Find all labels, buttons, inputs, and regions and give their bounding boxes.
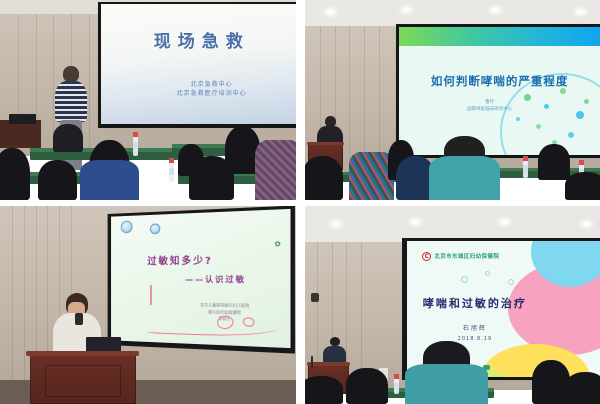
slide-2-subtitle: 曹玲 国家呼吸临床研究中心 — [419, 99, 559, 114]
audience-member — [255, 140, 296, 200]
slide-1-subtitle: 北京急救中心 北京急救医疗培训中心 — [128, 80, 295, 99]
equipment-bag — [53, 124, 83, 152]
slide-4-header-text: 北京市东城区妇幼保健院 — [434, 252, 499, 260]
hospital-logo-icon: C — [422, 252, 431, 261]
podium-1 — [0, 120, 41, 148]
slide-2-gradient-band — [399, 27, 600, 46]
slide-1-title: 现场急救 — [116, 27, 287, 52]
laptop-1 — [9, 114, 36, 124]
slide-4-header: C 北京市东城区妇幼保健院 — [422, 252, 499, 261]
lecture-scene-4: C 北京市东城区妇幼保健院 哮喘和过敏的治疗 石旭辉 2018.8.19 — [305, 206, 600, 404]
audience-member — [305, 376, 343, 404]
ceiling-light — [500, 220, 509, 224]
panel-bottom-left[interactable]: ✿ 过敏知多少? ——认识过敏 北京儿童医院顺义妇儿医院 顺义区妇幼保健院 吴昌… — [0, 206, 296, 404]
slide-4-date: 2018.8.19 — [415, 336, 536, 342]
water-bottle — [133, 132, 138, 156]
audience-member — [346, 368, 387, 404]
audience-member — [349, 152, 393, 200]
ceiling-light — [332, 222, 341, 226]
slide-1-subtitle-line2: 北京急救医疗培训中心 — [128, 89, 295, 98]
audience-member — [80, 160, 139, 200]
slide-3-subtitle: ——认识过敏 — [160, 274, 274, 286]
audience-member — [538, 144, 570, 180]
speaker-1-shirt — [55, 81, 88, 123]
slide-4-title: 哮喘和过敏的治疗 — [415, 295, 536, 311]
ribbon-decoration — [147, 315, 282, 338]
slide-1-subtitle-line1: 北京急救中心 — [128, 80, 295, 89]
panel-top-right[interactable]: 如何判断哮喘的严重程度 曹玲 国家呼吸临床研究中心 — [305, 0, 600, 200]
organization-logo-2 — [150, 223, 160, 234]
slide-3: ✿ 过敏知多少? ——认识过敏 北京儿童医院顺义妇儿医院 顺义区妇幼保健院 吴昌… — [111, 209, 290, 348]
ceiling-light — [582, 222, 591, 226]
water-bottle — [394, 374, 399, 394]
microphone — [75, 313, 83, 325]
speaker-1-head — [63, 66, 79, 82]
slide-2-subtitle-line1: 曹玲 — [419, 99, 559, 107]
corner-mark-icon: ✿ — [274, 240, 282, 250]
water-bottle — [523, 156, 528, 178]
slide-2-title: 如何判断哮喘的严重程度 — [409, 73, 590, 89]
lecture-scene-1: 现场急救 北京急救中心 北京急救医疗培训中心 — [0, 0, 296, 200]
audience-member — [565, 372, 600, 404]
projection-screen-3: ✿ 过敏知多少? ——认识过敏 北京儿童医院顺义妇儿医院 顺义区妇幼保健院 吴昌… — [111, 209, 290, 348]
audience-member — [405, 364, 488, 404]
audience-member — [0, 148, 30, 200]
lecture-scene-3: ✿ 过敏知多少? ——认识过敏 北京儿童医院顺义妇儿医院 顺义区妇幼保健院 吴昌… — [0, 206, 296, 404]
lecture-scene-2: 如何判断哮喘的严重程度 曹玲 国家呼吸临床研究中心 — [305, 0, 600, 200]
ceiling-light — [326, 10, 335, 14]
slide-3-title: 过敏知多少? — [127, 251, 235, 267]
slide-4-presenter: 石旭辉 — [415, 323, 536, 332]
slide-2: 如何判断哮喘的严重程度 曹玲 国家呼吸临床研究中心 — [399, 27, 600, 155]
audience-member — [429, 156, 500, 200]
panel-bottom-right[interactable]: C 北京市东城区妇幼保健院 哮喘和过敏的治疗 石旭辉 2018.8.19 — [305, 206, 600, 404]
photo-grid: 现场急救 北京急救中心 北京急救医疗培训中心 — [0, 0, 600, 404]
projection-screen-2: 如何判断哮喘的严重程度 曹玲 国家呼吸临床研究中心 — [399, 27, 600, 155]
speaker-4-head — [330, 337, 340, 347]
microphone — [311, 356, 313, 368]
panel-top-left[interactable]: 现场急救 北京急救中心 北京急救医疗培训中心 — [0, 0, 296, 200]
organization-logo-1 — [121, 221, 133, 234]
wall-fixture — [311, 293, 319, 302]
projection-screen-1: 现场急救 北京急救中心 北京急救医疗培训中心 — [101, 4, 296, 124]
podium-3 — [30, 351, 137, 404]
ceiling-light — [491, 8, 500, 12]
accent-bar — [150, 285, 152, 305]
slide-2-subtitle-line2: 国家呼吸临床研究中心 — [419, 106, 559, 114]
audience-member — [305, 156, 343, 200]
ceiling-light — [411, 220, 420, 224]
audience-member — [565, 172, 600, 200]
audience-member — [38, 160, 76, 200]
water-bottle — [169, 158, 174, 182]
slide-1: 现场急救 北京急救中心 北京急救医疗培训中心 — [101, 4, 296, 124]
